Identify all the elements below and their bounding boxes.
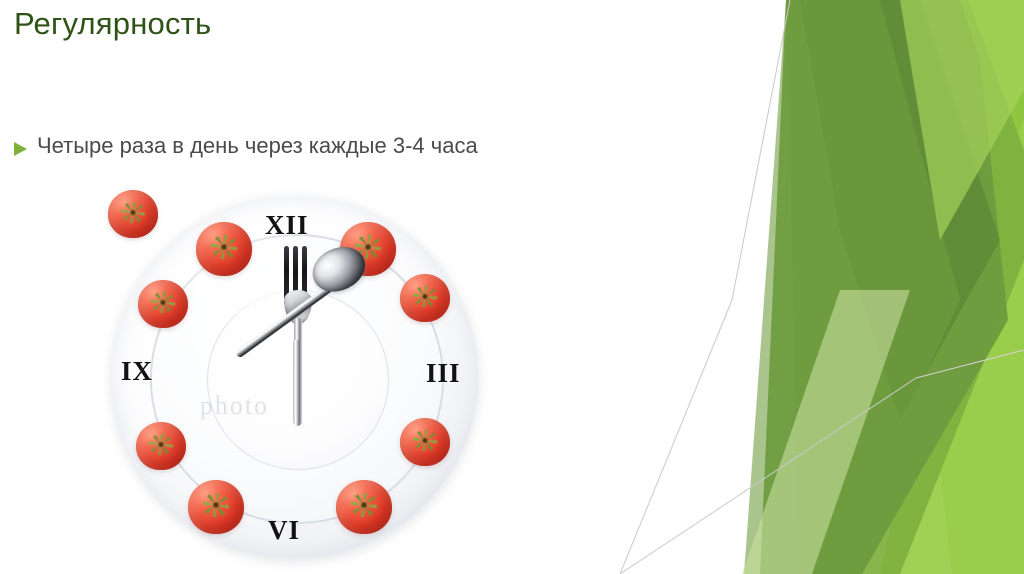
facet-hairline-2 [620,300,732,574]
facet-pale-1 [742,290,902,574]
numeral-iii: III [426,360,461,387]
facet-mid-1 [786,0,1024,574]
tomato [400,418,450,466]
photo-watermark: photo [200,391,269,421]
facet-dark-3 [744,0,960,574]
tomato [188,480,244,534]
numeral-ix: IX [121,358,153,385]
tomato [400,274,450,322]
tomato [138,280,188,328]
facet-hairline-4 [916,350,1024,378]
facet-pale-2 [836,0,1024,290]
facet-light-3 [900,0,1024,240]
noop [108,190,158,238]
numeral-xii: XII [265,212,309,239]
numeral-vi: VI [268,517,300,544]
facet-light-2 [742,290,910,574]
plate-clock-image: photo XII III VI IX [108,190,484,566]
facet-hairline-1 [732,0,790,300]
fork-handle [293,340,302,426]
slide-title: Регулярность [14,4,211,44]
triangle-bullet-icon [14,142,27,156]
facet-bright-2 [880,120,1024,574]
facet-dark-1 [760,0,1008,574]
bullet-list-item: Четыре раза в день через каждые 3-4 часа [14,131,478,161]
tomato [136,422,186,470]
presentation-slide: Регулярность Четыре раза в день через ка… [0,0,1024,574]
tomato [196,222,252,276]
facet-bright-1 [920,0,1024,574]
facet-pale-3 [900,200,1024,574]
facet-dark-2 [800,0,1000,420]
facet-hairline-3 [620,378,916,574]
bullet-text: Четыре раза в день через каждые 3-4 часа [37,131,478,161]
tomato [336,480,392,534]
